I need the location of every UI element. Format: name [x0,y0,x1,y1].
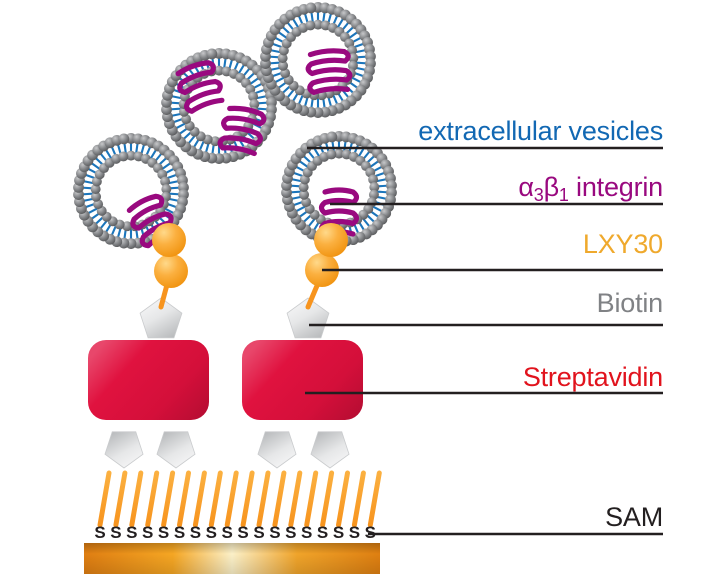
lipid-head [326,149,336,159]
sam-chain [291,473,300,525]
sulfur-label: S [222,523,233,542]
legend-label-sam: SAM [605,504,663,531]
sam-chain [259,473,268,525]
lipid-head [206,48,217,59]
legend-label-streptavidin: Streptavidin [523,364,663,391]
sam-chain [211,473,220,525]
sulfur-label: S [269,523,280,542]
sulfur-label: S [126,523,137,542]
sam-chain [180,473,189,525]
leader-lines-layer [305,148,663,534]
biotin-shape [258,432,296,468]
sam-alkyl-chains [100,473,379,525]
lipid-head [305,20,315,30]
sulfur-label: S [190,523,201,542]
sam-chain [354,473,363,525]
tether-layer [152,223,348,307]
sam-chain [323,473,332,525]
sam-chain [116,473,125,525]
biotin-pentagon [258,432,296,468]
streptavidin-body [88,340,209,420]
sam-chain [148,473,157,525]
sam-chain [243,473,252,525]
sam-layer: SSSSSSSSSSSSSSSSSS [84,473,380,574]
biotin-shape [105,432,143,468]
lipid-heads-inner [91,151,172,232]
sulfur-label: S [285,523,296,542]
biotin-pentagon [105,432,143,468]
sam-sulfur-labels: SSSSSSSSSSSSSSSSSS [94,523,376,542]
sulfur-label: S [253,523,264,542]
lxy30-tether [152,223,188,307]
lxy30-sphere-lower [154,254,188,288]
sulfur-label: S [142,523,153,542]
biotin-shape [157,432,195,468]
biotin-shape [311,432,349,468]
lipid-head [118,133,129,144]
legend-label-biotin: Biotin [597,290,663,317]
lxy30-sphere-upper [314,223,348,257]
lxy30-sphere-upper [152,223,186,257]
biotin-pentagon [157,432,195,468]
biotin-pentagon [311,432,349,468]
legend-label-integrin: α3β1 integrin [518,174,663,201]
sam-chain [227,473,236,525]
vesicles-layer [73,2,397,249]
sulfur-label: S [317,523,328,542]
sulfur-label: S [237,523,248,542]
sam-chain [132,473,141,525]
legend-label-lxy30: LXY30 [583,231,663,258]
vesicle [161,48,277,164]
lipid-head [118,151,128,161]
sam-chain [164,473,173,525]
sam-chain [370,473,379,525]
sam-chain [307,473,316,525]
sam-chain [195,473,204,525]
gold-substrate-shading [84,543,380,574]
sulfur-label: S [349,523,360,542]
streptavidin-layer [88,340,363,420]
vesicle [260,2,376,118]
sulfur-label: S [158,523,169,542]
sam-chain [339,473,348,525]
sam-chain [275,473,284,525]
sulfur-label: S [94,523,105,542]
sulfur-label: S [301,523,312,542]
sulfur-label: S [174,523,185,542]
legend-label-extracellular-vesicles: extracellular vesicles [418,118,663,145]
streptavidin-body [242,340,363,420]
sulfur-label: S [206,523,217,542]
sulfur-label: S [365,523,376,542]
sam-chain [100,473,109,525]
diagram-root: SSSSSSSSSSSSSSSSSS extracellular vesicle… [0,0,724,586]
sulfur-label: S [110,523,121,542]
lipid-head [305,2,316,13]
sulfur-label: S [333,523,344,542]
lipid-head [326,131,337,142]
